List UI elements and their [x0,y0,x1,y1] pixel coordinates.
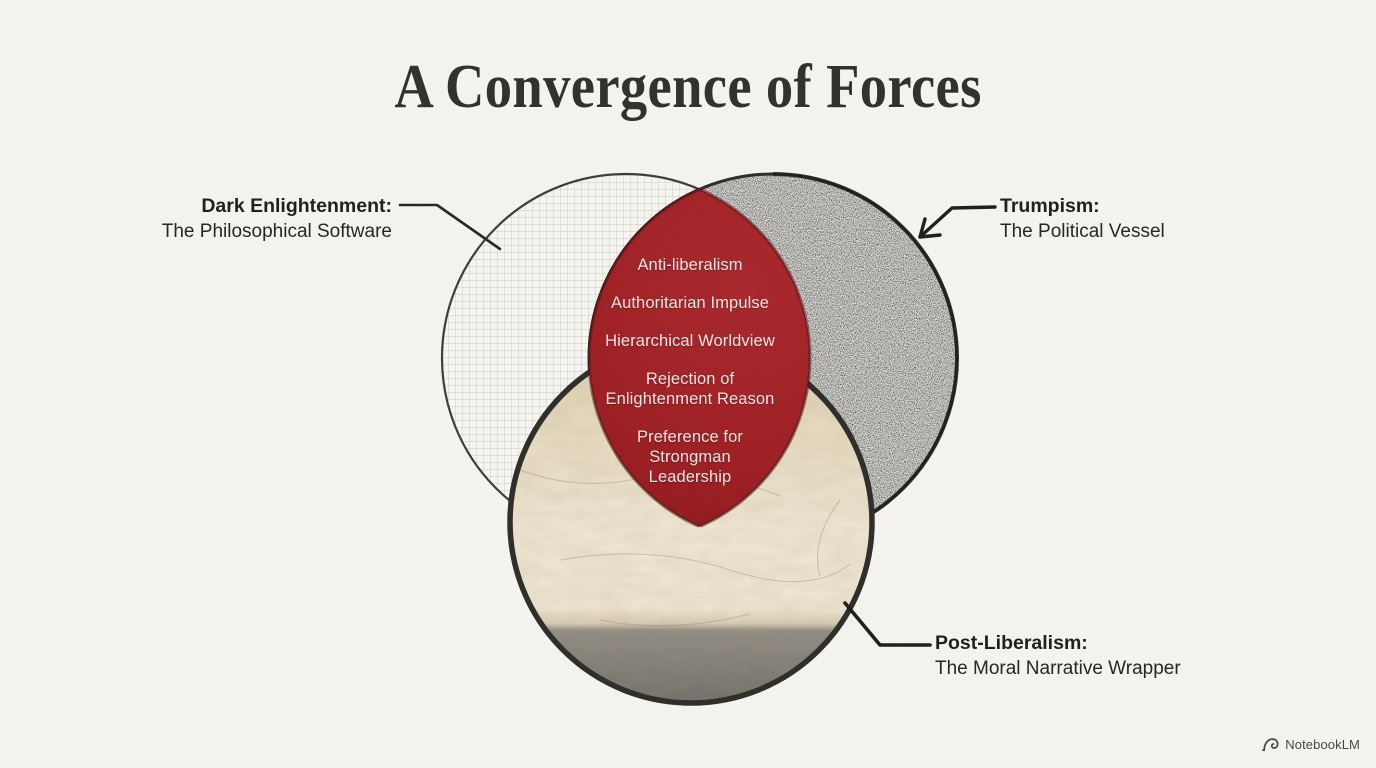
callout-subtitle: The Political Vessel [1000,219,1165,245]
callout-title: Trumpism: [1000,194,1165,219]
intersection-item: Preference for Strongman Leadership [587,427,793,487]
notebooklm-watermark: NotebookLM [1262,737,1360,752]
intersection-item-list: Anti-liberalism Authoritarian Impulse Hi… [587,255,793,487]
callout-subtitle: The Philosophical Software [130,219,392,245]
intersection-item: Anti-liberalism [587,255,793,275]
notebooklm-spiral-icon [1262,737,1279,752]
watermark-label: NotebookLM [1285,737,1360,752]
callout-dark-enlightenment: Dark Enlightenment: The Philosophical So… [130,194,392,245]
intersection-item: Hierarchical Worldview [587,331,793,351]
page-title: A Convergence of Forces [83,52,1294,123]
callout-trumpism: Trumpism: The Political Vessel [1000,194,1165,245]
intersection-item: Authoritarian Impulse [587,293,793,313]
callout-title: Dark Enlightenment: [130,194,392,219]
callout-post-liberalism: Post-Liberalism: The Moral Narrative Wra… [935,631,1181,682]
callout-subtitle: The Moral Narrative Wrapper [935,656,1181,682]
infographic-canvas: A Convergence of Forces [0,0,1376,768]
callout-title: Post-Liberalism: [935,631,1181,656]
leader-line-right [920,207,995,237]
leader-line-bottom [845,603,930,645]
intersection-item: Rejection of Enlightenment Reason [587,369,793,409]
